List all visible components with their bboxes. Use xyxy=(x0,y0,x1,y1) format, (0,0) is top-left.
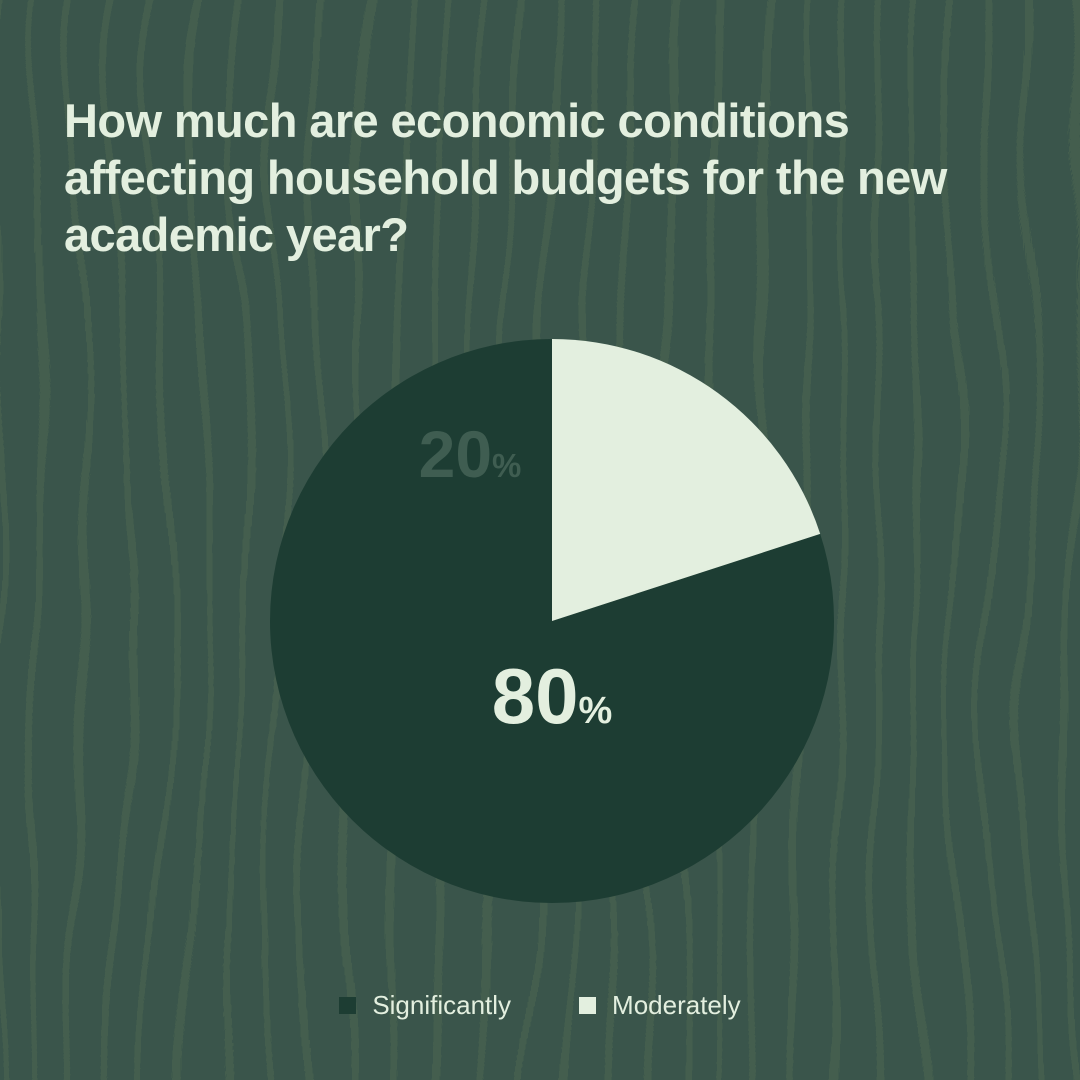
pie-label-moderately-value: 20 xyxy=(419,417,492,491)
pie-label-moderately-percent: % xyxy=(492,447,521,484)
chart-legend: Significantly Moderately xyxy=(0,992,1080,1018)
pie-chart: 80% 20% xyxy=(0,0,1080,1080)
pie-chart-svg: 80% 20% xyxy=(0,0,1080,1080)
legend-swatch-moderately-icon xyxy=(579,997,596,1014)
legend-label-significantly: Significantly xyxy=(372,992,511,1018)
legend-item-moderately[interactable]: Moderately xyxy=(579,992,741,1018)
pie-label-significantly-value: 80 xyxy=(492,652,579,740)
pie-label-significantly-percent: % xyxy=(578,690,612,732)
legend-label-moderately: Moderately xyxy=(612,992,741,1018)
legend-swatch-significantly-icon xyxy=(339,997,356,1014)
legend-item-significantly[interactable]: Significantly xyxy=(339,992,511,1018)
pie-slice-group xyxy=(270,339,834,903)
infographic-poster: How much are economic conditions affecti… xyxy=(0,0,1080,1080)
